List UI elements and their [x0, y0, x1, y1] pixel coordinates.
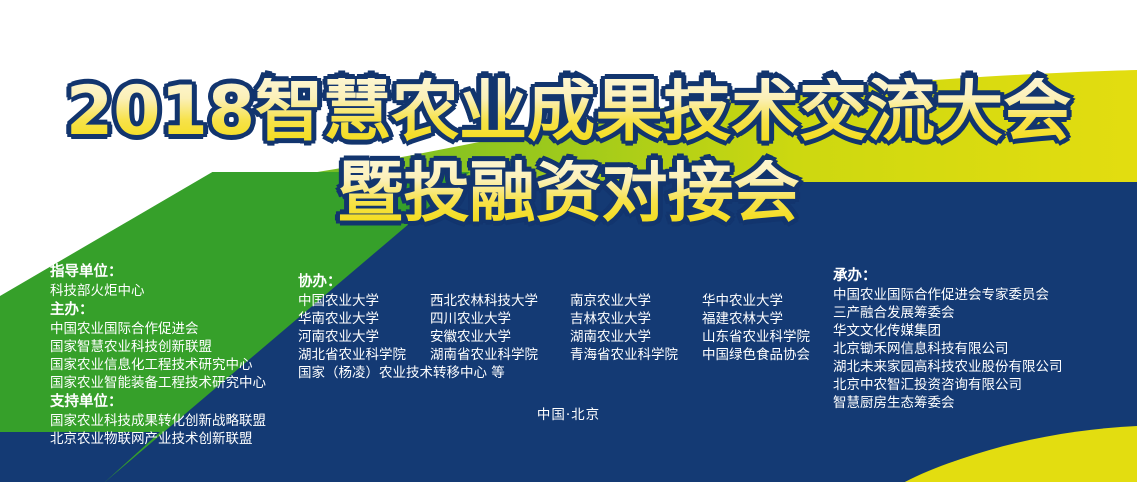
- organizer-heading: 主办：: [50, 300, 266, 320]
- guide-heading: 指导单位：: [50, 262, 266, 282]
- host-item: 三产融合发展筹委会: [833, 304, 1063, 322]
- host-item: 北京锄禾网信息科技有限公司: [833, 340, 1063, 358]
- coorganizer-cell: 华南农业大学: [298, 310, 430, 328]
- coorganizer-cell: 河南农业大学: [298, 328, 430, 346]
- coorganizer-grid: 中国农业大学 西北农林科技大学 南京农业大学 华中农业大学 华南农业大学 四川农…: [298, 292, 810, 382]
- host-item: 北京中农智汇投资咨询有限公司: [833, 376, 1063, 394]
- organizer-item: 中国农业国际合作促进会: [50, 320, 266, 338]
- coorganizer-cell: 中国农业大学: [298, 292, 430, 310]
- coorganizer-cell: 福建农林大学: [702, 310, 810, 328]
- coorganizer-cell: 西北农林科技大学: [430, 292, 570, 310]
- coorganizer-cell: 湖南农业大学: [570, 328, 702, 346]
- coorganizer-heading: 协办：: [298, 272, 810, 292]
- coorganizer-cell: 湖南省农业科学院: [430, 346, 570, 364]
- coorganizer-cell: 吉林农业大学: [570, 310, 702, 328]
- host-item: 湖北未来家园高科技农业股份有限公司: [833, 358, 1063, 376]
- coorganizer-cell: 湖北省农业科学院: [298, 346, 430, 364]
- organizer-item: 国家智慧农业科技创新联盟: [50, 338, 266, 356]
- conference-banner: 2018智慧农业成果技术交流大会 2018智慧农业成果技术交流大会 暨投融资对接…: [0, 0, 1137, 482]
- coorganizer-cell: 青海省农业科学院: [570, 346, 702, 364]
- host-item: 中国农业国际合作促进会专家委员会: [833, 286, 1063, 304]
- coorganizer-column: 协办： 中国农业大学 西北农林科技大学 南京农业大学 华中农业大学 华南农业大学…: [298, 272, 810, 382]
- coorganizer-last-line: 国家（杨凌）农业技术转移中心 等: [298, 364, 810, 382]
- support-item: 北京农业物联网产业技术创新联盟: [50, 430, 266, 448]
- host-column: 承办： 中国农业国际合作促进会专家委员会 三产融合发展筹委会 华文文化传媒集团 …: [833, 266, 1063, 412]
- coorganizer-cell: 中国绿色食品协会: [702, 346, 810, 364]
- organizer-item: 国家农业信息化工程技术研究中心: [50, 356, 266, 374]
- guide-item: 科技部火炬中心: [50, 282, 266, 300]
- coorganizer-cell: 山东省农业科学院: [702, 328, 810, 346]
- coorganizer-cell: 南京农业大学: [570, 292, 702, 310]
- host-heading: 承办：: [833, 266, 1063, 286]
- coorganizer-cell: 华中农业大学: [702, 292, 810, 310]
- host-item: 华文文化传媒集团: [833, 322, 1063, 340]
- coorganizer-cell: 安徽农业大学: [430, 328, 570, 346]
- coorganizer-cell: 四川农业大学: [430, 310, 570, 328]
- venue-text: 中国·北京: [0, 403, 1137, 423]
- organizer-item: 国家农业智能装备工程技术研究中心: [50, 374, 266, 392]
